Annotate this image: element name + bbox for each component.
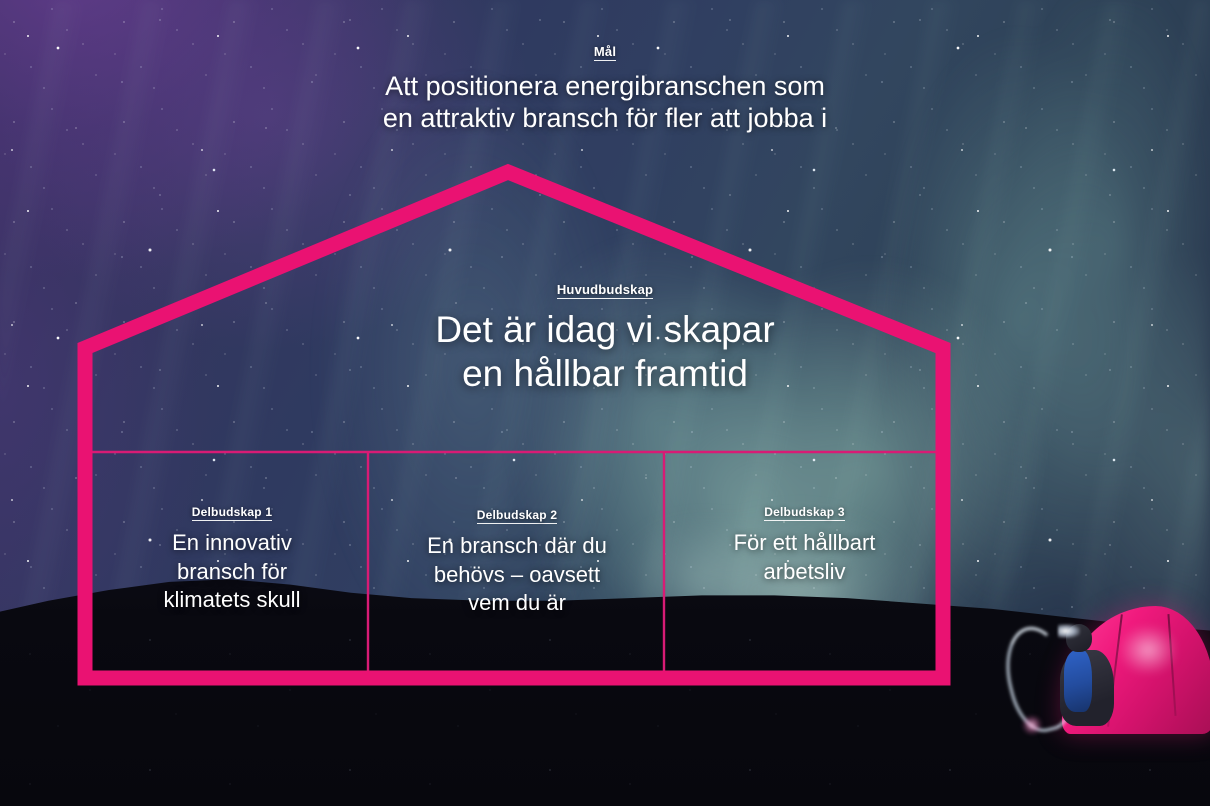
goal-kicker-label: Mål xyxy=(594,44,616,61)
sub-message-1-kicker-label: Delbudskap 1 xyxy=(192,505,272,521)
sub-message-2-line-3: vem du är xyxy=(370,589,664,618)
goal-headline: Att positionera energibranschen som en a… xyxy=(0,70,1210,135)
sub-message-3-headline: För ett hållbart arbetsliv xyxy=(666,529,943,586)
goal-text-block: Mål Att positionera energibranschen som … xyxy=(0,43,1210,135)
sub-message-3-line-1: För ett hållbart xyxy=(666,529,943,558)
main-message-kicker-label: Huvudbudskap xyxy=(557,282,653,299)
light-trail-tip xyxy=(1022,716,1042,734)
sub-message-2-kicker-label: Delbudskap 2 xyxy=(477,508,557,524)
sub-message-2-headline: En bransch där du behövs – oavsett vem d… xyxy=(370,532,664,618)
sub-message-3-block: Delbudskap 3 För ett hållbart arbetsliv xyxy=(666,503,943,586)
goal-headline-line-2: en attraktiv bransch för fler att jobba … xyxy=(0,102,1210,134)
sub-message-1-headline: En innovativ bransch för klimatets skull xyxy=(96,529,368,615)
camper-arm xyxy=(1064,650,1092,712)
main-message-headline: Det är idag vi skapar en hållbar framtid xyxy=(0,308,1210,395)
sub-message-2-block: Delbudskap 2 En bransch där du behövs – … xyxy=(370,506,664,618)
sub-message-1-line-2: bransch för xyxy=(96,558,368,587)
sub-message-1-block: Delbudskap 1 En innovativ bransch för kl… xyxy=(96,503,368,615)
main-message-line-2: en hållbar framtid xyxy=(0,352,1210,396)
sub-message-2-line-1: En bransch där du xyxy=(370,532,664,561)
goal-headline-line-1: Att positionera energibranschen som xyxy=(0,70,1210,102)
sub-message-1-line-1: En innovativ xyxy=(96,529,368,558)
sub-message-3-line-2: arbetsliv xyxy=(666,558,943,587)
sub-message-3-kicker-label: Delbudskap 3 xyxy=(764,505,844,521)
camper-and-tent-scene xyxy=(1010,560,1210,740)
main-message-line-1: Det är idag vi skapar xyxy=(0,308,1210,352)
slide-canvas: Mål Att positionera energibranschen som … xyxy=(0,0,1210,806)
sub-message-2-line-2: behövs – oavsett xyxy=(370,561,664,590)
tent-inner-glow xyxy=(1120,626,1176,674)
main-message-text-block: Huvudbudskap Det är idag vi skapar en hå… xyxy=(0,281,1210,395)
headlamp-glow-icon xyxy=(1058,624,1080,638)
sub-message-1-line-3: klimatets skull xyxy=(96,586,368,615)
